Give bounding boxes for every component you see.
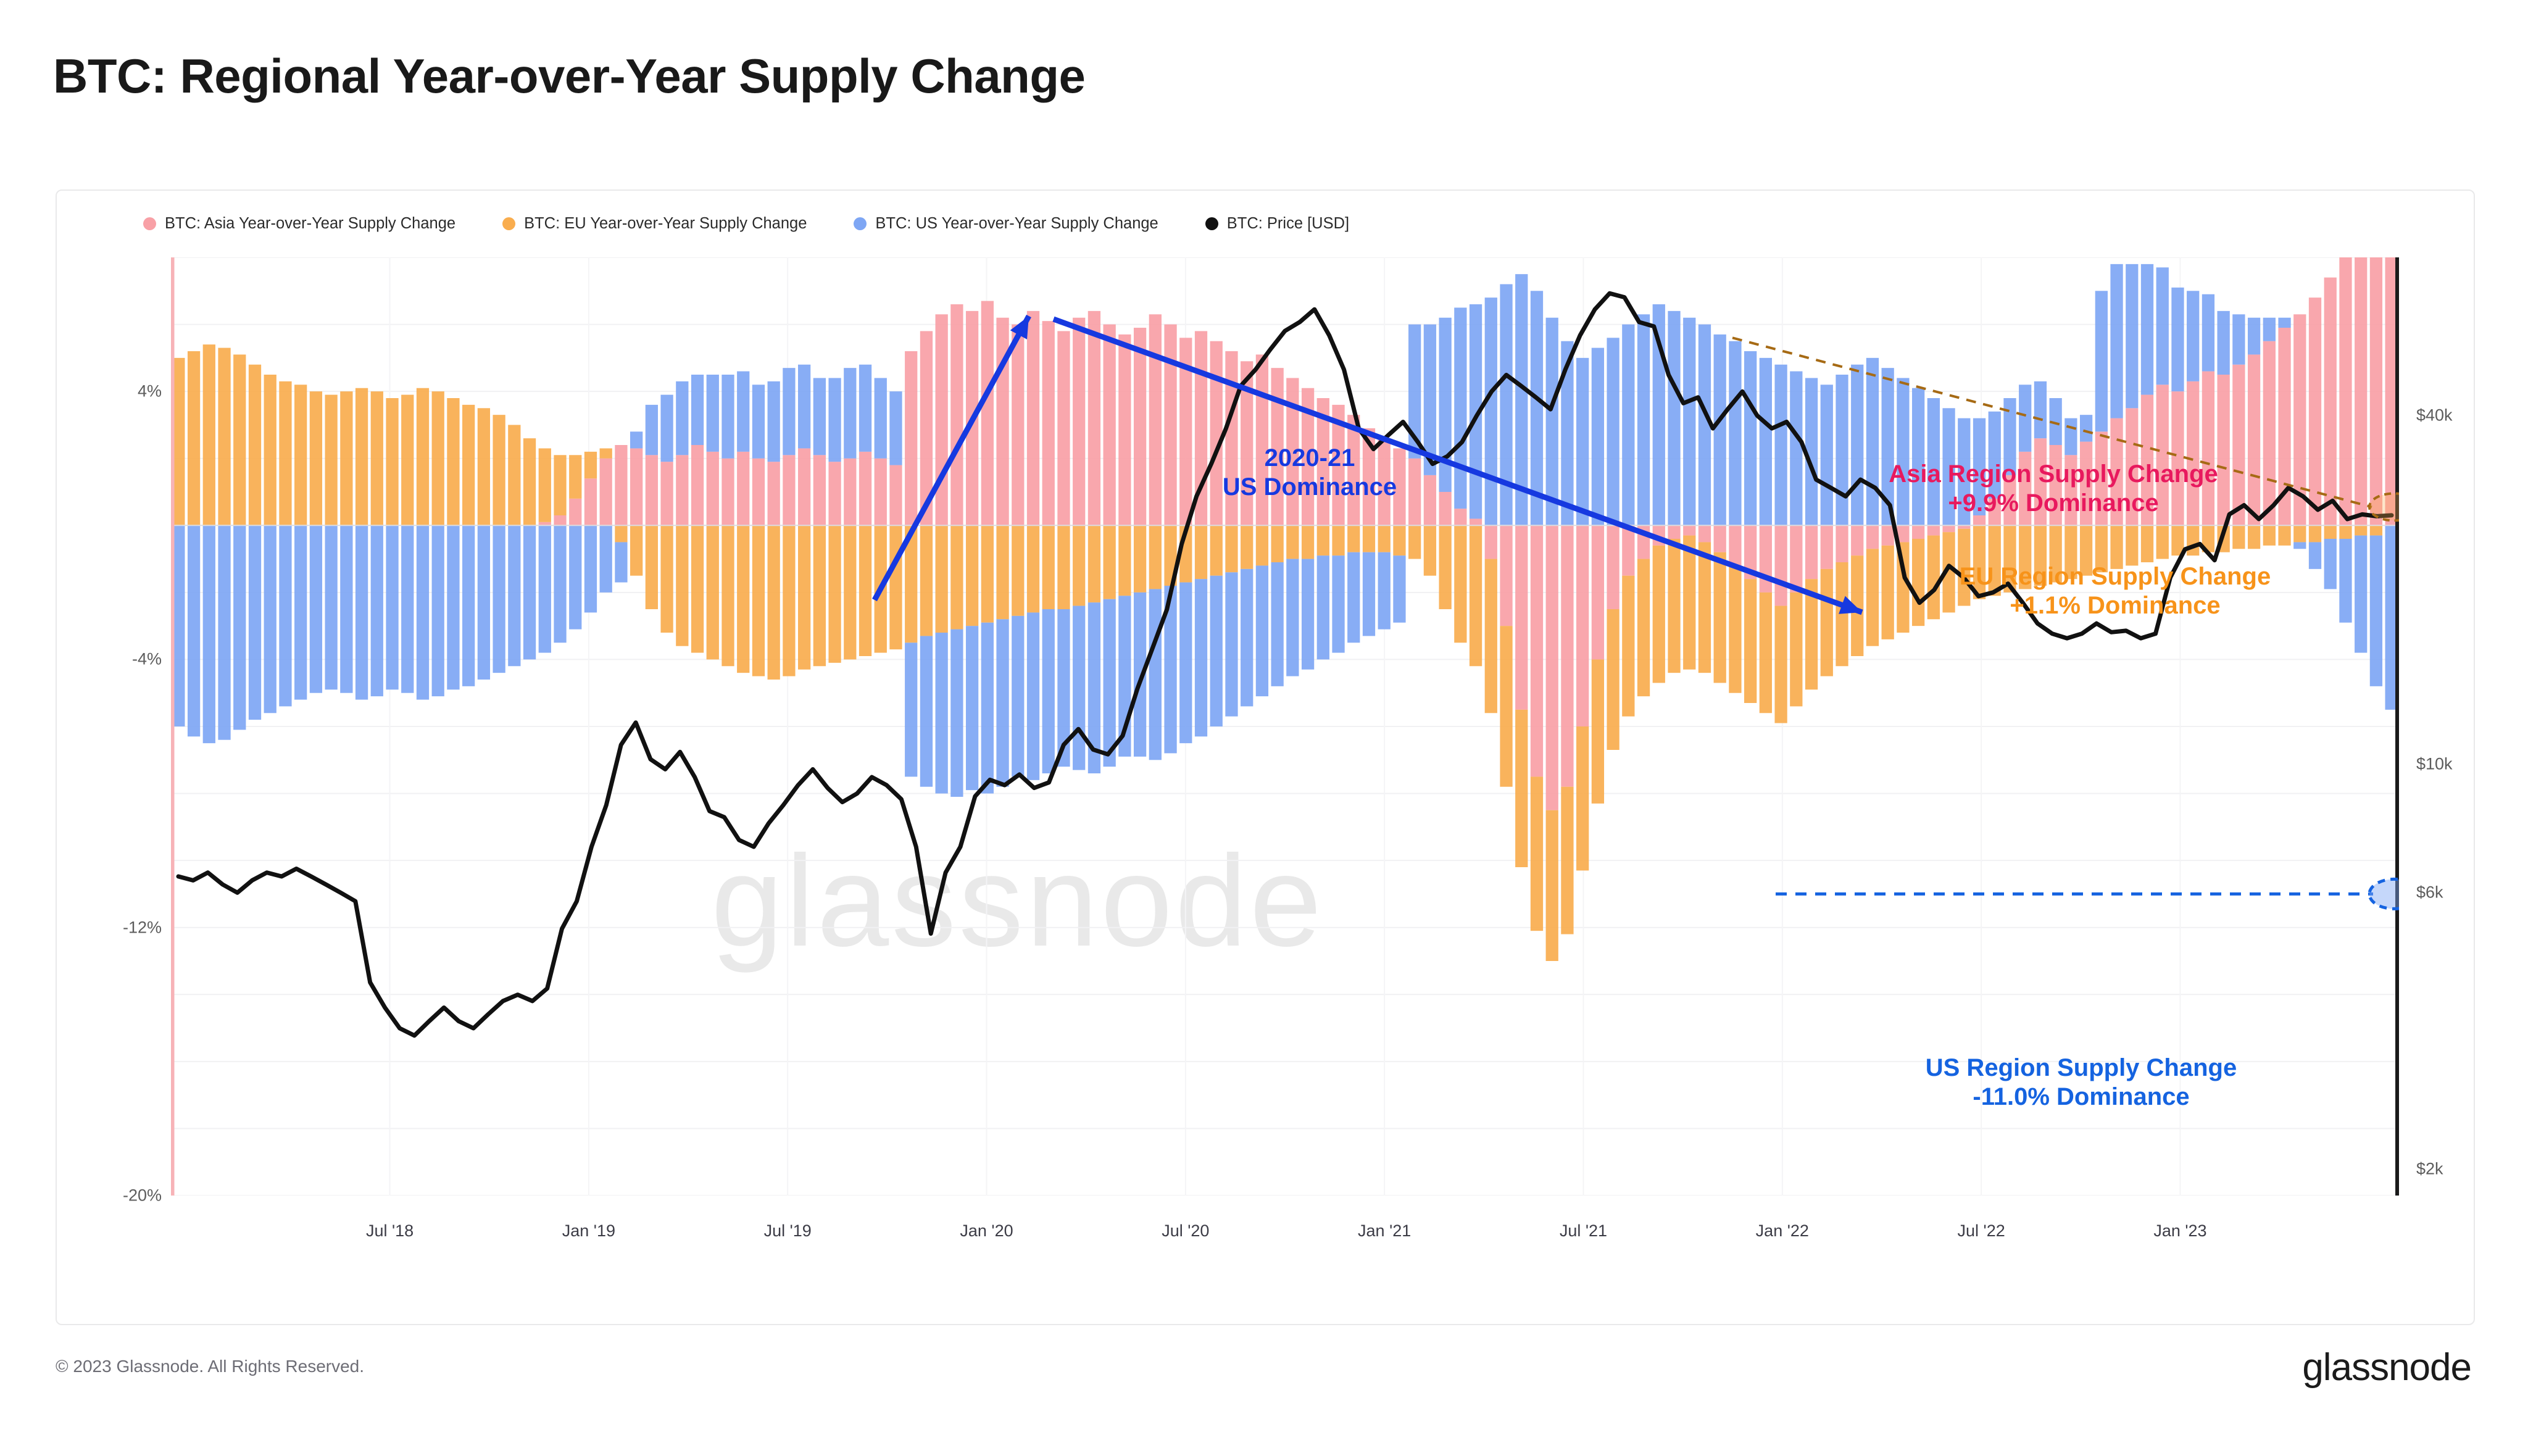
x-tick: Jan '21	[1358, 1221, 1411, 1241]
y-tick-left: -20%	[72, 1186, 162, 1205]
chart-legend: BTC: Asia Year-over-Year Supply Change B…	[143, 208, 1396, 239]
footer-copyright: © 2023 Glassnode. All Rights Reserved.	[56, 1357, 364, 1376]
plot-area	[171, 257, 2399, 1196]
glassnode-logo: glassnode	[2302, 1346, 2471, 1389]
legend-swatch-asia	[143, 217, 156, 230]
x-tick: Jul '20	[1162, 1221, 1209, 1241]
legend-swatch-price	[1205, 217, 1218, 230]
legend-label-price: BTC: Price [USD]	[1227, 215, 1349, 233]
legend-label-asia: BTC: Asia Year-over-Year Supply Change	[165, 215, 455, 233]
y-tick-right: $2k	[2416, 1160, 2443, 1179]
legend-swatch-us	[854, 217, 867, 230]
y-tick-right: $6k	[2416, 883, 2443, 902]
x-tick: Jan '19	[562, 1221, 615, 1241]
chart-page: BTC: Regional Year-over-Year Supply Chan…	[0, 0, 2528, 1456]
legend-label-eu: BTC: EU Year-over-Year Supply Change	[524, 215, 807, 233]
y-tick-left: 4%	[72, 382, 162, 401]
legend-item-us[interactable]: BTC: US Year-over-Year Supply Change	[854, 215, 1158, 233]
x-tick: Jul '22	[1958, 1221, 2005, 1241]
x-tick: Jan '22	[1756, 1221, 1809, 1241]
y-tick-left: -12%	[72, 918, 162, 937]
x-tick: Jul '21	[1560, 1221, 1607, 1241]
x-tick: Jul '19	[764, 1221, 812, 1241]
x-tick: Jan '20	[960, 1221, 1013, 1241]
y-tick-right: $40k	[2416, 406, 2453, 425]
legend-item-price[interactable]: BTC: Price [USD]	[1205, 215, 1349, 233]
y-tick-right: $10k	[2416, 755, 2453, 774]
x-tick: Jul '18	[366, 1221, 414, 1241]
page-title: BTC: Regional Year-over-Year Supply Chan…	[53, 48, 1085, 104]
legend-swatch-eu	[502, 217, 515, 230]
chart-svg	[171, 257, 2399, 1196]
x-tick: Jan '23	[2153, 1221, 2206, 1241]
chart-card: BTC: Asia Year-over-Year Supply Change B…	[56, 189, 2475, 1325]
legend-item-eu[interactable]: BTC: EU Year-over-Year Supply Change	[502, 215, 807, 233]
legend-label-us: BTC: US Year-over-Year Supply Change	[875, 215, 1158, 233]
y-tick-left: -4%	[72, 650, 162, 669]
legend-item-asia[interactable]: BTC: Asia Year-over-Year Supply Change	[143, 215, 455, 233]
